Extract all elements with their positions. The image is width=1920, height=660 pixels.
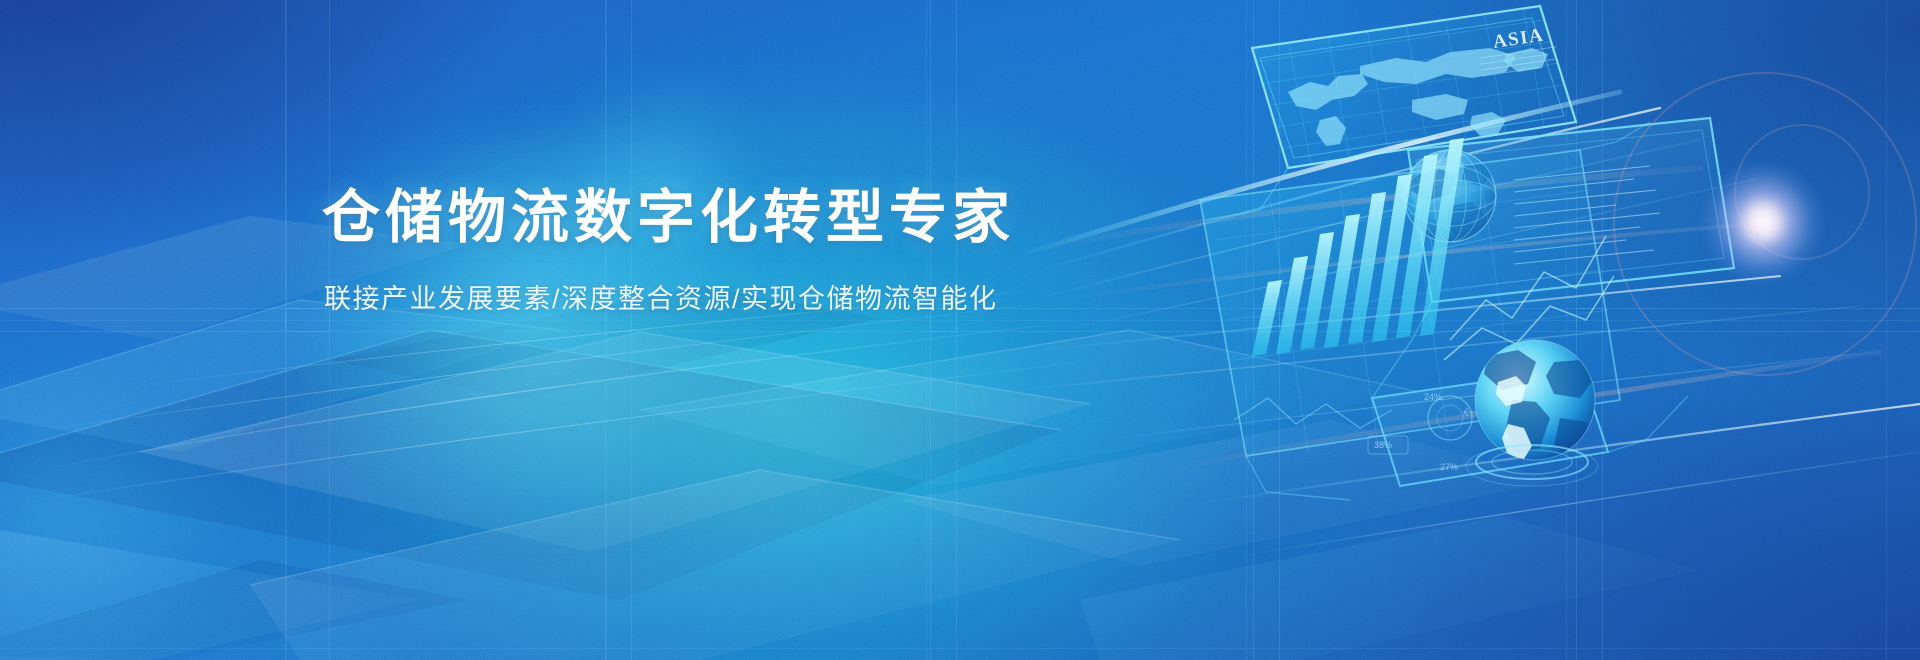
lens-flare — [1703, 162, 1823, 282]
left-glow — [0, 370, 270, 660]
page-title: 仓储物流数字化转型专家 — [322, 186, 1015, 251]
hero-copy: 仓储物流数字化转型专家 联接产业发展要素/深度整合资源/实现仓储物流智能化 — [322, 186, 1015, 316]
page-subtitle: 联接产业发展要素/深度整合资源/实现仓储物流智能化 — [324, 277, 1015, 316]
hero-banner: ASIA — [0, 0, 1920, 660]
